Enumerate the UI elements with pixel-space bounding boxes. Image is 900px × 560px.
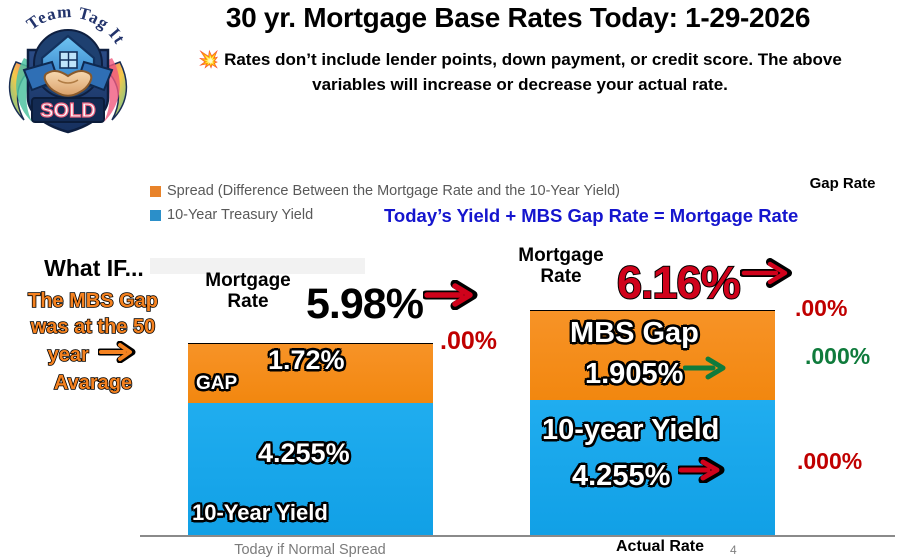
what-if-body: The MBS Gap was at the 50 year Avarage xyxy=(4,288,182,397)
subtitle-note: 💥 Rates don’t include lender points, dow… xyxy=(170,48,870,97)
subtitle-text: Rates don’t include lender points, down … xyxy=(224,50,842,94)
right-mortgage-rate-value-wrap: 6.16% xyxy=(617,247,796,309)
right-mortgage-rate-value: 6.16% xyxy=(617,257,740,308)
gap-rate-label: Gap Rate xyxy=(790,175,895,192)
legend-label-yield: 10-Year Treasury Yield xyxy=(167,207,313,223)
page-title: 30 yr. Mortgage Base Rates Today: 1-29-2… xyxy=(140,2,896,34)
left-yield-word: 10-Year Yield xyxy=(192,500,328,526)
arrow-right-icon xyxy=(423,272,481,321)
note-middle-percent: .00% xyxy=(440,327,497,356)
left-mortgage-rate-value-wrap: 5.98% xyxy=(306,272,481,329)
note-right-top-percent: .00% xyxy=(795,295,847,322)
right-yield-word: 10-year Yield xyxy=(542,414,719,447)
left-mortgage-rate-value: 5.98% xyxy=(306,280,423,328)
slide-canvas: SOLD Team Tag It 30 yr. Mortgage Base Ra… xyxy=(0,0,900,560)
what-if-heading: What IF... xyxy=(14,255,174,282)
right-gap-word: MBS Gap xyxy=(570,317,699,350)
left-gap-value: 1.72% xyxy=(268,345,345,376)
legend-item-spread: Spread (Difference Between the Mortgage … xyxy=(150,183,620,199)
what-if-line-3-wrap: year xyxy=(4,341,182,370)
left-mortgage-rate-label: Mortgage Rate xyxy=(192,270,304,313)
note-right-bottom-percent: .000% xyxy=(797,448,862,475)
formula-text: Today’s Yield + MBS Gap Rate = Mortgage … xyxy=(384,205,798,227)
what-if-line-1: The MBS Gap xyxy=(4,288,182,314)
what-if-line-4: Avarage xyxy=(4,370,182,396)
slide-number: 4 xyxy=(730,543,737,557)
right-gap-value: 1.905% xyxy=(585,358,683,390)
legend-swatch-yield xyxy=(150,210,161,221)
right-mortgage-rate-label: Mortgage Rate xyxy=(505,245,617,288)
right-yield-value: 4.255% xyxy=(572,460,670,492)
svg-text:SOLD: SOLD xyxy=(40,100,96,122)
legend-label-spread: Spread (Difference Between the Mortgage … xyxy=(167,183,620,199)
what-if-line-3: year xyxy=(48,344,89,366)
burst-icon: 💥 xyxy=(198,50,219,69)
note-right-mid-percent: .000% xyxy=(805,343,870,370)
what-if-line-2: was at the 50 xyxy=(4,314,182,340)
category-label-today-if-normal-spread: Today if Normal Spread xyxy=(200,542,420,558)
team-tag-it-sold-logo: SOLD Team Tag It xyxy=(2,2,134,134)
arrow-right-icon xyxy=(678,457,726,491)
left-yield-value: 4.255% xyxy=(258,438,350,469)
arrow-right-icon xyxy=(683,355,729,389)
left-gap-word: GAP xyxy=(196,373,237,395)
right-yield-value-wrap: 4.255% xyxy=(572,457,726,493)
arrow-right-icon xyxy=(98,341,138,370)
legend-swatch-spread xyxy=(150,186,161,197)
legend-item-yield: 10-Year Treasury Yield xyxy=(150,207,313,223)
chart-axis-line xyxy=(140,535,895,537)
arrow-right-icon xyxy=(740,247,796,299)
right-gap-value-wrap: 1.905% xyxy=(585,355,729,391)
